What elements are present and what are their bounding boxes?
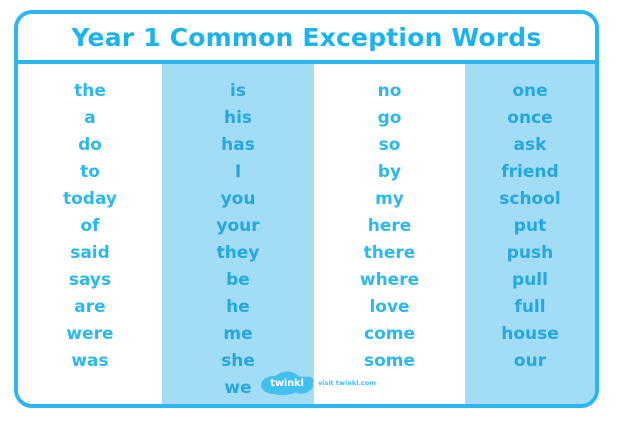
word-item: full [465, 294, 595, 321]
word-item: put [465, 213, 595, 240]
word-item: says [18, 267, 162, 294]
word-item: of [18, 213, 162, 240]
word-item: house [465, 321, 595, 348]
word-item: here [314, 213, 465, 240]
word-item: was [18, 348, 162, 375]
word-item: today [18, 186, 162, 213]
word-item: come [314, 321, 465, 348]
title-bar: Year 1 Common Exception Words [18, 14, 595, 64]
word-item: our [465, 348, 595, 375]
word-item: so [314, 132, 465, 159]
word-item: a [18, 105, 162, 132]
word-column-3: nogosobymyheretherewherelovecomesome [314, 64, 465, 408]
word-item: there [314, 240, 465, 267]
word-item: your [162, 213, 314, 240]
word-item: one [465, 78, 595, 105]
word-column-1: theadototodayofsaidsaysarewerewas [18, 64, 162, 408]
word-item: love [314, 294, 465, 321]
word-item: his [162, 105, 314, 132]
cloud-icon: twinkl [259, 371, 315, 395]
word-column-4: oneonceaskfriendschoolputpushpullfullhou… [465, 64, 595, 408]
word-item: push [465, 240, 595, 267]
word-item: to [18, 159, 162, 186]
word-item: he [162, 294, 314, 321]
word-item: said [18, 240, 162, 267]
word-item: friend [465, 159, 595, 186]
word-item: where [314, 267, 465, 294]
word-item: were [18, 321, 162, 348]
twinkl-watermark: twinkl visit twinkl.com [259, 370, 374, 396]
word-item: you [162, 186, 314, 213]
word-item: they [162, 240, 314, 267]
word-item: has [162, 132, 314, 159]
word-item: go [314, 105, 465, 132]
word-item: by [314, 159, 465, 186]
word-columns: theadototodayofsaidsaysarewerewas ishish… [18, 64, 595, 408]
word-item: once [465, 105, 595, 132]
word-item: be [162, 267, 314, 294]
word-item: me [162, 321, 314, 348]
word-column-2: ishishasIyouyourtheybehemeshewe [162, 64, 314, 408]
word-item: pull [465, 267, 595, 294]
word-item: do [18, 132, 162, 159]
word-item: ask [465, 132, 595, 159]
word-item: no [314, 78, 465, 105]
visit-url-text: visit twinkl.com [318, 379, 376, 387]
word-item: I [162, 159, 314, 186]
word-item: is [162, 78, 314, 105]
word-item: the [18, 78, 162, 105]
page-title: Year 1 Common Exception Words [72, 23, 542, 52]
word-item: school [465, 186, 595, 213]
twinkl-brand-text: twinkl [259, 371, 315, 395]
word-item: my [314, 186, 465, 213]
worksheet-poster: Year 1 Common Exception Words theadototo… [14, 10, 599, 408]
word-item: are [18, 294, 162, 321]
